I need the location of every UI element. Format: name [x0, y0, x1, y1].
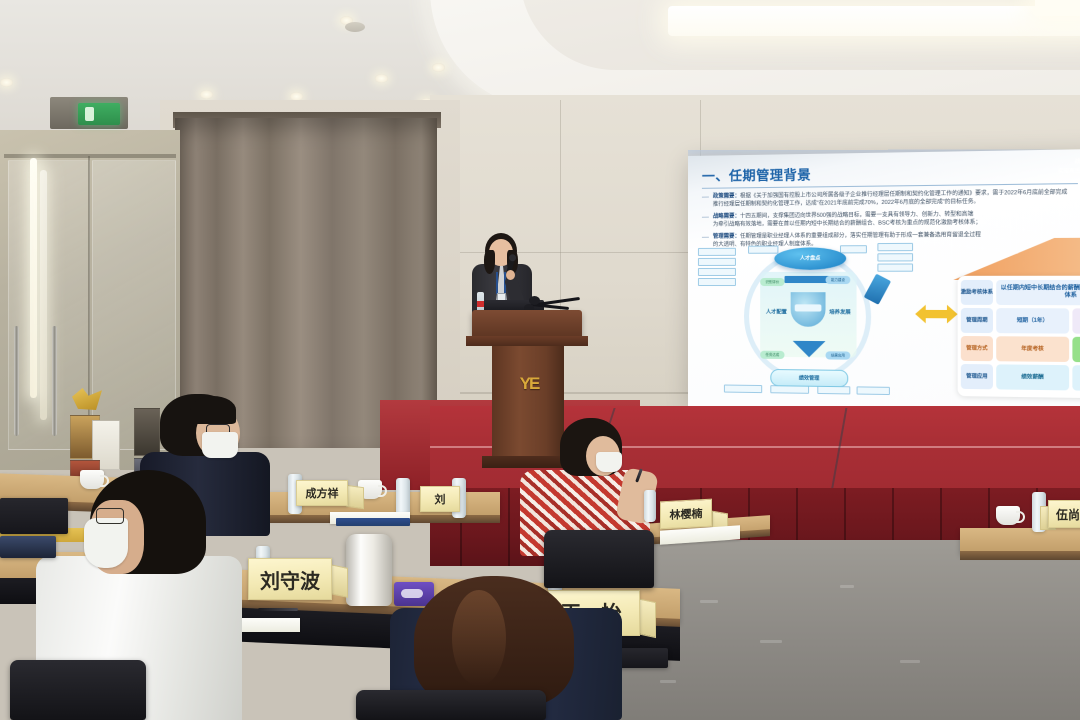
- nameplate-text: 刘: [435, 491, 446, 507]
- ceiling-downlight-icon: [200, 90, 213, 99]
- diagram-tag: 识别评价: [760, 278, 784, 286]
- chair: [10, 660, 146, 720]
- diagram-side-box: [748, 246, 778, 254]
- ceiling-downlight-icon: [375, 74, 388, 83]
- table-header-value: 以任期内短中长期结合的薪酬组合、规范化激励考核体系: [996, 280, 1080, 306]
- carpet-speck: [900, 660, 920, 663]
- water-bottle-icon: [477, 292, 484, 312]
- chair: [544, 530, 654, 588]
- incentive-table: 激励考核体系 以任期内短中长期结合的薪酬组合、规范化激励考核体系 管理周期 短期…: [958, 276, 1080, 399]
- nameplate-wing: [330, 564, 348, 598]
- bullet-dash-icon: —: [702, 193, 709, 210]
- diagram-node-right: 培养发展: [817, 304, 863, 321]
- nameplate: 伍尚: [1048, 500, 1080, 528]
- table-row: 管理应用 绩效薪酬 人才发展: [961, 364, 1080, 392]
- conference-room-photo: 一、任期管理背景 — 政策需要：根据《关于加强国有控股上市公司所属各级子企业推行…: [0, 0, 1080, 720]
- diagram-node-bottom: 绩效管理: [770, 369, 848, 387]
- bullet-body: 任期管理是职业经理人体系的重要组成部分，落实任期管理有助于形成一套兼备选用育留退…: [740, 232, 981, 240]
- bullet-body: 根据《关于加强国有控股上市公司所属各级子企业推行经理层任期制和契约化管理工作的通…: [740, 189, 1067, 199]
- table-cell: 年度考核: [996, 336, 1069, 362]
- roof-line-2: 实现高质量迈进: [1058, 167, 1080, 177]
- vertical-tube-light: [40, 170, 47, 420]
- tea-cup-icon: [996, 506, 1020, 525]
- diagram-tag: 任务达成: [760, 351, 784, 359]
- thermos-icon: [346, 534, 392, 606]
- nameplate-text: 刘守波: [260, 565, 320, 594]
- diagram-bar: [785, 276, 830, 283]
- diagram-side-box: [698, 248, 736, 256]
- presentation-slide: 一、任期管理背景 — 政策需要：根据《关于加强国有控股上市公司所属各级子企业推行…: [688, 149, 1080, 413]
- diagram-side-box: [882, 315, 914, 322]
- nameplate-wing: [346, 485, 364, 510]
- table-cell: 中长期（3年）: [1072, 308, 1080, 334]
- slide-bullet: — 政策需要：根据《关于加强国有控股上市公司所属各级子企业推行经理层任期制和契约…: [702, 188, 1080, 209]
- bullet-text: 政策需要：根据《关于加强国有控股上市公司所属各级子企业推行经理层任期制和契约化管…: [713, 188, 1068, 209]
- bullet-body-2: 推行经理层任期制和契约化管理工作，达成"在2021年底前完成70%，2022年6…: [713, 199, 979, 208]
- bullet-body: 十四五期间，支撑集团迈向世界500强的战略目标，需要一支具有领导力、创新力、转型…: [740, 211, 973, 219]
- diagram-footer-box: [857, 386, 890, 395]
- ceiling-light-slot: [668, 6, 1080, 36]
- door-handle[interactable]: [52, 326, 57, 436]
- diagram-side-box: [704, 300, 734, 307]
- glass-door-wall[interactable]: [0, 130, 180, 470]
- roof-line-1: 战略目标: [1058, 157, 1080, 167]
- nameplate: 刘守波: [248, 558, 332, 600]
- table-row-label: 管理方式: [961, 336, 993, 361]
- door-mullion: [88, 156, 90, 456]
- slide-title: 一、任期管理背景: [702, 160, 1080, 185]
- carpet-speck: [700, 600, 718, 603]
- bullet-dash-icon: —: [702, 213, 709, 230]
- table-edge: [960, 551, 1080, 560]
- carpet-speck: [840, 585, 854, 588]
- water-bottle-icon: [644, 490, 656, 522]
- face-mask-icon: [202, 432, 238, 458]
- table-row-label: 激励考核体系: [961, 280, 993, 305]
- ceiling-vent: [345, 22, 365, 32]
- carpet-speck: [660, 680, 676, 683]
- diagram-side-box: [704, 320, 734, 327]
- diagram-side-box: [877, 243, 913, 251]
- diagram-side-box: [877, 263, 913, 271]
- nameplate: 刘: [420, 486, 460, 512]
- nameplate: 林樱楠: [660, 499, 712, 530]
- eyeglasses-icon: [96, 508, 124, 524]
- ceiling-downlight-icon: [0, 78, 13, 87]
- carpet-speck: [760, 640, 782, 643]
- diagram-side-box: [882, 325, 914, 332]
- table-cell: 人才发展: [1072, 365, 1080, 391]
- diagram-side-box: [698, 278, 736, 286]
- pen-icon: [258, 608, 298, 611]
- face-mask-icon: [596, 452, 622, 472]
- nameplate: 成方祥: [296, 480, 348, 506]
- diagram-side-box: [877, 253, 913, 261]
- door-header: [4, 154, 176, 158]
- diagram-side-box: [698, 268, 736, 276]
- attendee-hair-front: [190, 396, 236, 424]
- bullet-text: 战略需要：十四五期间，支撑集团迈向世界500强的战略目标，需要一支具有领导力、创…: [713, 210, 981, 229]
- bullet-label: 政策需要：: [713, 193, 740, 199]
- document-folder: [336, 518, 410, 526]
- bullet-label: 战略需要：: [713, 213, 740, 219]
- diagram-tag: 能力建设: [826, 276, 851, 284]
- diagram-side-box: [704, 310, 734, 317]
- diagram-node-left: 人才配置: [754, 304, 799, 320]
- nameplate-text: 成方祥: [306, 485, 339, 501]
- table-row-label: 管理周期: [961, 308, 993, 333]
- chair: [356, 690, 546, 720]
- diagram-side-box: [698, 258, 736, 266]
- projection-screen: 一、任期管理背景 — 政策需要：根据《关于加强国有控股上市公司所属各级子企业推行…: [688, 149, 1080, 413]
- speaker-hand: [506, 270, 515, 280]
- table-cell: 短期（1年）: [996, 308, 1069, 334]
- door-handle[interactable]: [14, 326, 19, 436]
- laptop-icon: [0, 536, 56, 558]
- diagram-side-box: [840, 245, 867, 253]
- table-row: 管理周期 短期（1年） 中长期（3年）: [961, 308, 1080, 334]
- table-cell: 任期考核: [1072, 337, 1080, 363]
- podium-logo: YE: [512, 372, 546, 396]
- bullet-body-2: 为牵引战略有效落地，需要在首以任期内短中长期结合的薪酬组合、BSC考核为重点的规…: [713, 220, 981, 228]
- ceiling-light-slot-2: [1035, 0, 1080, 16]
- podium-top: [472, 310, 582, 338]
- face-mask-icon: [84, 518, 128, 568]
- diagram-down-arrow-icon: [793, 341, 826, 358]
- diagram-footer-box: [724, 385, 762, 394]
- double-arrow-icon: [922, 305, 952, 324]
- nameplate-text: 林樱楠: [670, 505, 703, 523]
- attendee-hair-sheen: [452, 590, 506, 686]
- diagram-tag: 结果应用: [826, 351, 851, 359]
- diagram-footer-box: [817, 386, 850, 395]
- tablet-device: [0, 498, 68, 534]
- table-row-label: 管理应用: [961, 364, 993, 389]
- diagram-side-box: [882, 294, 914, 301]
- vertical-tube-light: [30, 158, 37, 398]
- glass-pane: [92, 160, 176, 450]
- table-row: 管理方式 年度考核 任期考核: [961, 336, 1080, 363]
- table-cell: 绩效薪酬: [996, 364, 1069, 390]
- podium-body: [492, 346, 564, 464]
- ceiling-downlight-icon: [432, 63, 445, 72]
- diagram-node-top: 人才盘点: [774, 247, 846, 270]
- display-poster: [134, 408, 160, 456]
- podium-ledge: [466, 336, 588, 346]
- talent-cycle-diagram: 人才盘点 人才配置 培养发展 绩效管理 识别评价 能力建设 任务达成 结果应用: [698, 241, 915, 396]
- bullet-label: 管理需要：: [713, 233, 740, 239]
- tea-cup-icon: [80, 470, 104, 489]
- nameplate-text: 伍尚: [1056, 506, 1080, 523]
- diagram-side-box: [882, 305, 914, 312]
- speaker-hair-side: [484, 250, 495, 274]
- slide-bullet: — 战略需要：十四五期间，支撑集团迈向世界500强的战略目标，需要一支具有领导力…: [702, 209, 1080, 229]
- skirt-fold: [508, 488, 510, 566]
- table-row: 激励考核体系 以任期内短中长期结合的薪酬组合、规范化激励考核体系: [961, 280, 1080, 306]
- roof-banner-text: 战略目标 实现高质量迈进: [1058, 157, 1080, 177]
- exit-sign-icon: [78, 103, 120, 125]
